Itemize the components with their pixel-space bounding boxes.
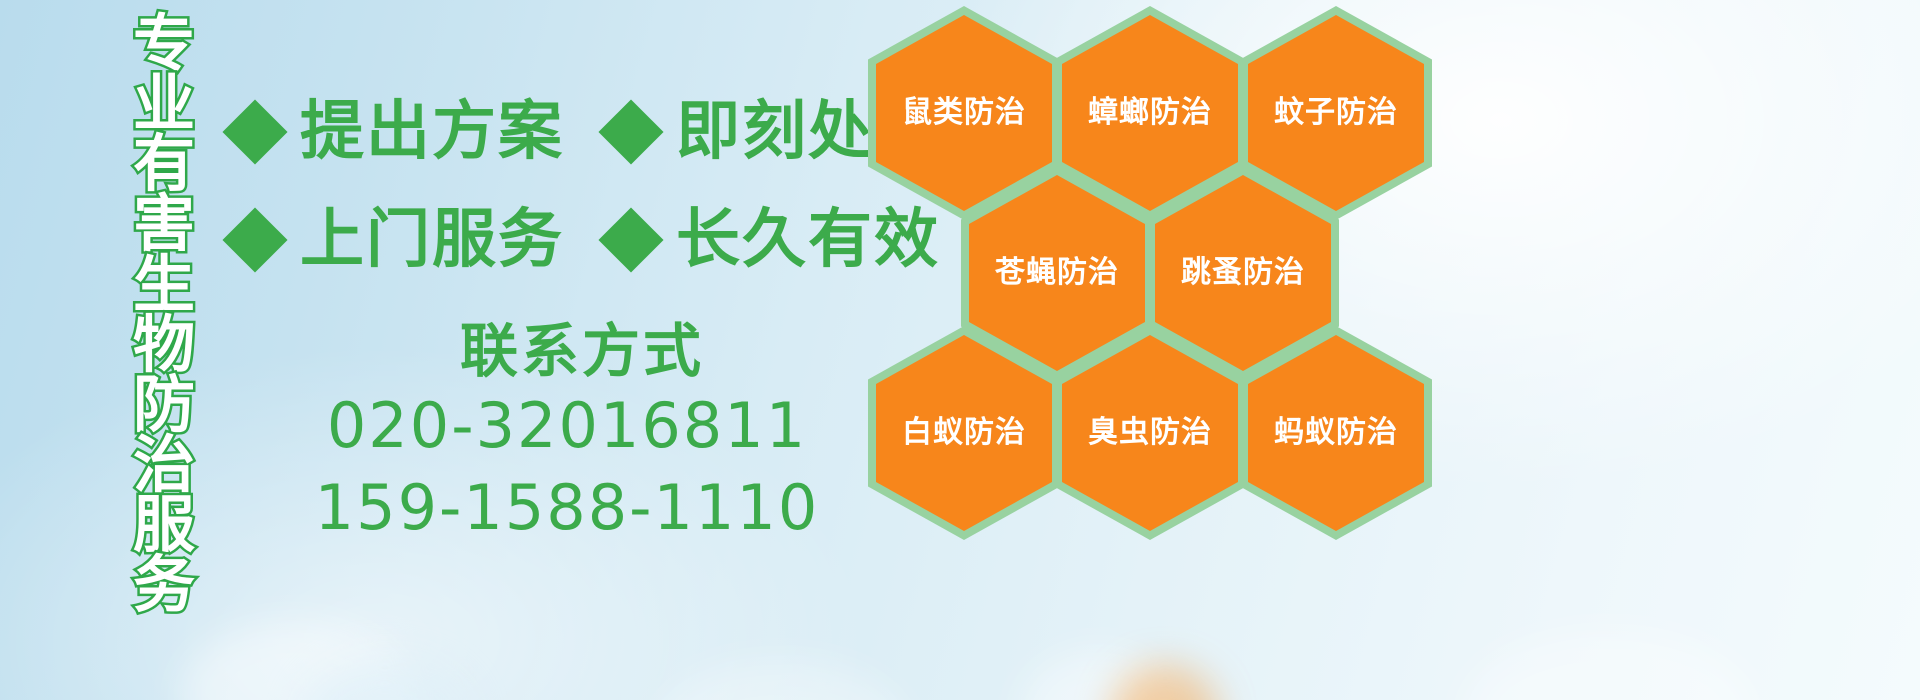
phone-number-mobile[interactable]: 159-1588-1110 [262, 467, 872, 549]
vertical-slogan-char: 服 [133, 495, 195, 555]
hex-inner: 蟑螂防治 [1062, 15, 1238, 211]
diamond-bullet-icon [222, 99, 287, 164]
hex-inner: 鼠类防治 [876, 15, 1052, 211]
service-label: 蟑螂防治 [1088, 98, 1212, 128]
service-label: 苍蝇防治 [995, 258, 1119, 288]
vertical-slogan-char: 防 [133, 375, 195, 435]
vertical-slogan-char: 专 [133, 14, 195, 74]
diamond-bullet-icon [598, 99, 663, 164]
hex-inner: 蚂蚁防治 [1248, 335, 1424, 531]
hex-inner: 苍蝇防治 [969, 175, 1145, 371]
hex-inner: 蚊子防治 [1248, 15, 1424, 211]
feature-label: 提出方案 [300, 100, 564, 164]
feature-item-propose-plan: 提出方案 [232, 100, 564, 164]
feature-row: 上门服务 长久有效 [232, 186, 872, 294]
bokeh-blob [1020, 650, 1180, 700]
feature-item-door-to-door-service: 上门服务 [232, 208, 564, 272]
diamond-bullet-icon [598, 207, 663, 272]
vertical-slogan-char: 业 [133, 74, 195, 134]
hex-inner: 臭虫防治 [1062, 335, 1238, 531]
hex-inner: 白蚁防治 [876, 335, 1052, 531]
diamond-bullet-icon [222, 207, 287, 272]
pest-control-banner: 专 业 有 害 生 物 防 治 服 务 提出方案 即刻处理 上门服务 [0, 0, 1920, 700]
service-label: 臭虫防治 [1088, 418, 1212, 448]
bokeh-blob [300, 660, 470, 700]
phone-number-landline[interactable]: 020-32016811 [262, 385, 872, 467]
service-label: 跳蚤防治 [1181, 258, 1305, 288]
service-label: 蚊子防治 [1274, 98, 1398, 128]
vertical-slogan-char: 治 [133, 435, 195, 495]
contact-block: 联系方式 020-32016811 159-1588-1110 [232, 318, 872, 548]
service-label: 鼠类防治 [902, 98, 1026, 128]
feature-list: 提出方案 即刻处理 上门服务 长久有效 [232, 78, 872, 294]
feature-label: 上门服务 [300, 208, 564, 272]
bokeh-blob-orange [1110, 665, 1220, 700]
service-label: 白蚁防治 [902, 418, 1026, 448]
feature-row: 提出方案 即刻处理 [232, 78, 872, 186]
bokeh-blob [1460, 630, 1760, 700]
vertical-slogan-char: 生 [133, 255, 195, 315]
vertical-slogan-char: 物 [133, 315, 195, 375]
vertical-slogan-char: 有 [133, 134, 195, 194]
vertical-slogan-char: 务 [133, 555, 195, 615]
vertical-slogan: 专 业 有 害 生 物 防 治 服 务 [104, 14, 224, 674]
bokeh-blob [650, 660, 910, 700]
service-label: 蚂蚁防治 [1274, 418, 1398, 448]
service-honeycomb: 鼠类防治 蟑螂防治 蚊子防治 苍蝇防治 跳蚤防治 白蚁防治 [860, 0, 1460, 580]
vertical-slogan-char: 害 [133, 194, 195, 254]
hex-inner: 跳蚤防治 [1155, 175, 1331, 371]
contact-title: 联系方式 [292, 318, 872, 385]
